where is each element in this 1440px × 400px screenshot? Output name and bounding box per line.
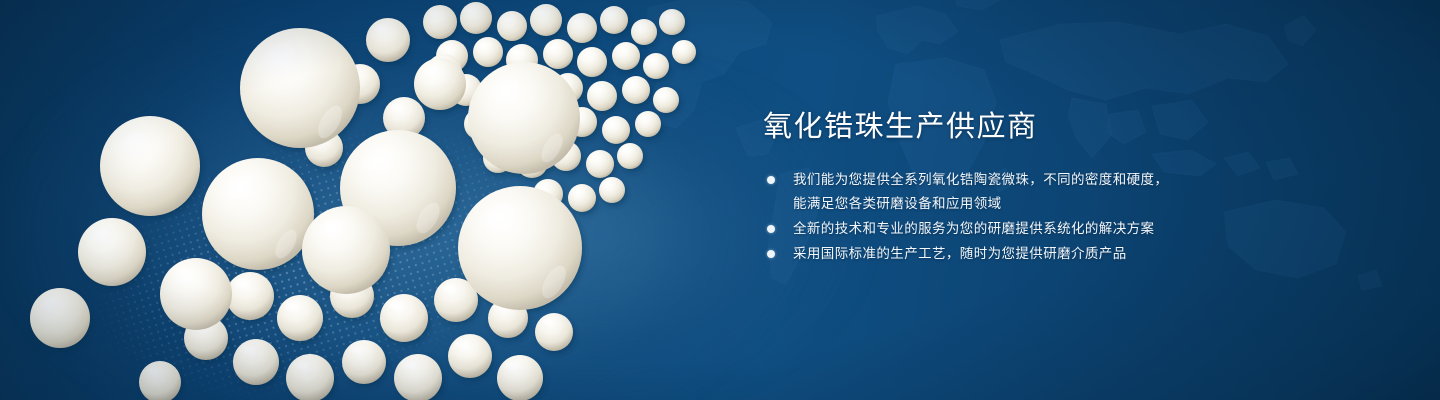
feature-item-1: 我们能为您提供全系列氧化锆陶瓷微珠，不同的密度和硬度， 能满足您各类研磨设备和应…: [763, 168, 1363, 216]
bullet-dot-icon: [767, 176, 775, 184]
banner-copy: 氧化锆珠生产供应商 我们能为您提供全系列氧化锆陶瓷微珠，不同的密度和硬度， 能满…: [763, 108, 1363, 267]
banner-feature-list: 我们能为您提供全系列氧化锆陶瓷微珠，不同的密度和硬度， 能满足您各类研磨设备和应…: [763, 168, 1363, 266]
feature-item-2-line1: 全新的技术和专业的服务为您的研磨提供系统化的解决方案: [793, 221, 1154, 236]
bullet-dot-icon: [767, 225, 775, 233]
feature-item-3: 采用国际标准的生产工艺，随时为您提供研磨介质产品: [763, 242, 1363, 266]
feature-item-2: 全新的技术和专业的服务为您的研磨提供系统化的解决方案: [763, 217, 1363, 241]
feature-item-1-line2: 能满足您各类研磨设备和应用领域: [793, 192, 1363, 216]
banner-headline: 氧化锆珠生产供应商: [763, 108, 1363, 146]
feature-item-1-line1: 我们能为您提供全系列氧化锆陶瓷微珠，不同的密度和硬度，: [793, 172, 1168, 187]
bullet-dot-icon: [767, 250, 775, 258]
feature-item-3-line1: 采用国际标准的生产工艺，随时为您提供研磨介质产品: [793, 246, 1127, 261]
hero-banner: 氧化锆珠生产供应商 我们能为您提供全系列氧化锆陶瓷微珠，不同的密度和硬度， 能满…: [0, 0, 1440, 400]
